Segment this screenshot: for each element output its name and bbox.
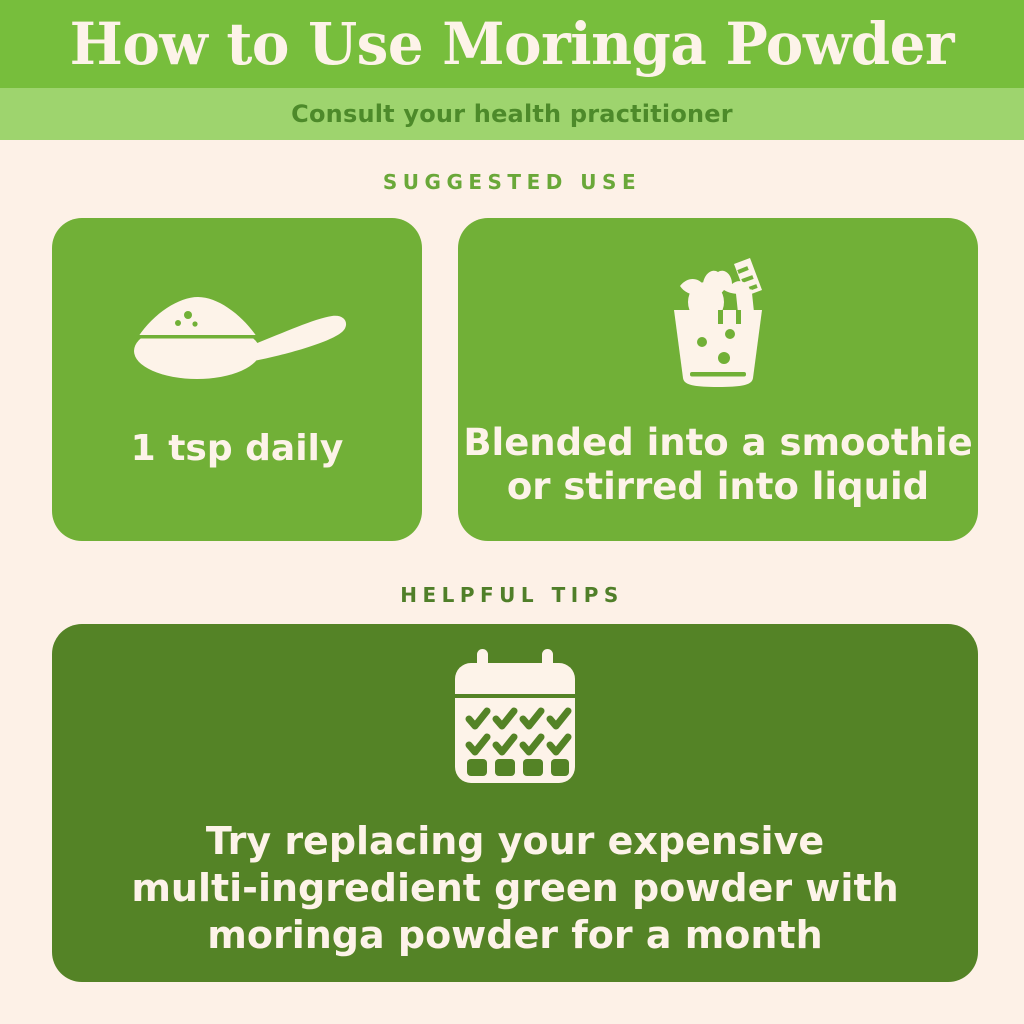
section-label-helpful-tips: HELPFUL TIPS bbox=[0, 583, 1024, 607]
calendar-with-checkmarks-icon bbox=[451, 647, 579, 792]
card-text-line: multi-ingredient green powder with bbox=[131, 865, 898, 912]
page-title: How to Use Moringa Powder bbox=[70, 15, 954, 73]
spoon-of-powder-icon bbox=[124, 289, 350, 394]
card-text-line: Blended into a smoothie bbox=[463, 421, 972, 465]
smoothie-glass-icon bbox=[658, 250, 778, 395]
card-text-suggested-dose: 1 tsp daily bbox=[131, 428, 344, 470]
card-usage-method: Blended into a smoothie or stirred into … bbox=[458, 218, 978, 541]
card-suggested-dose: 1 tsp daily bbox=[52, 218, 422, 541]
subtitle-band: Consult your health practitioner bbox=[0, 88, 1024, 140]
header-band: How to Use Moringa Powder bbox=[0, 0, 1024, 88]
subtitle-text: Consult your health practitioner bbox=[291, 100, 733, 128]
card-text-line: or stirred into liquid bbox=[463, 465, 972, 509]
card-text-line: 1 tsp daily bbox=[131, 428, 344, 470]
card-text-line: moringa powder for a month bbox=[131, 912, 898, 959]
card-helpful-tip: Try replacing your expensive multi-ingre… bbox=[52, 624, 978, 982]
card-text-usage-method: Blended into a smoothie or stirred into … bbox=[463, 421, 972, 508]
card-text-helpful-tip: Try replacing your expensive multi-ingre… bbox=[131, 818, 898, 958]
card-text-line: Try replacing your expensive bbox=[131, 818, 898, 865]
section-label-suggested-use: SUGGESTED USE bbox=[0, 170, 1024, 194]
